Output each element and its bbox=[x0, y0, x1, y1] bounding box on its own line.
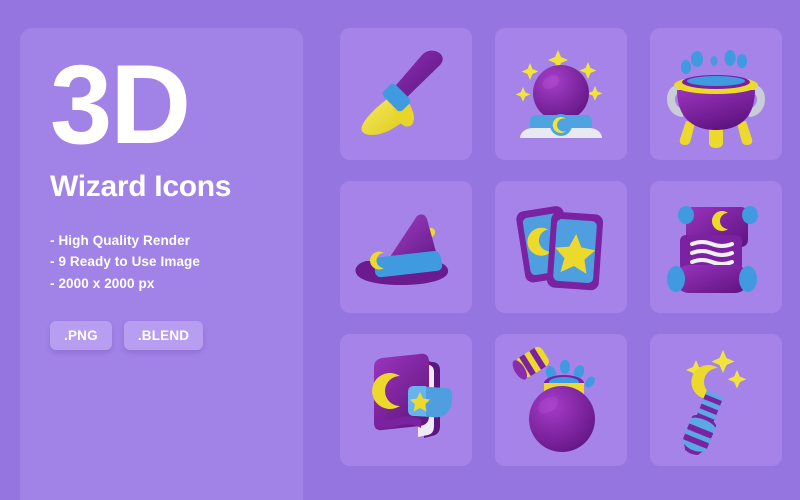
format-badge-blend[interactable]: .BLEND bbox=[124, 321, 203, 350]
cork-lid bbox=[510, 345, 551, 382]
icon-tile-magic-wand[interactable] bbox=[650, 334, 782, 466]
feature-item: - 9 Ready to Use Image bbox=[50, 251, 273, 273]
poster-root: 3D Wizard Icons - High Quality Render - … bbox=[0, 0, 800, 500]
crystal-ball-icon bbox=[495, 28, 627, 160]
icon-tile-crystal-ball[interactable] bbox=[495, 28, 627, 160]
icon-tile-potion-bottle[interactable] bbox=[495, 334, 627, 466]
broomstick-icon bbox=[340, 28, 472, 160]
feature-item: - High Quality Render bbox=[50, 230, 273, 252]
bubbles bbox=[681, 50, 747, 74]
icon-tile-tarot-cards[interactable] bbox=[495, 181, 627, 313]
feature-list: - High Quality Render - 9 Ready to Use I… bbox=[50, 204, 273, 296]
icon-tile-broomstick[interactable] bbox=[340, 28, 472, 160]
tarot-cards-icon bbox=[495, 181, 627, 313]
wizard-hat-icon bbox=[340, 181, 472, 313]
icon-tile-wizard-hat[interactable] bbox=[340, 181, 472, 313]
icon-tile-scroll[interactable] bbox=[650, 181, 782, 313]
format-badge-row: .PNG .BLEND bbox=[50, 295, 273, 350]
promo-card: 3D Wizard Icons - High Quality Render - … bbox=[20, 28, 303, 500]
icon-grid bbox=[340, 28, 782, 466]
cauldron-icon bbox=[650, 28, 782, 160]
feature-item: - 2000 x 2000 px bbox=[50, 273, 273, 295]
scroll-icon bbox=[650, 181, 782, 313]
promo-subtitle: Wizard Icons bbox=[50, 164, 273, 204]
magic-wand-icon bbox=[650, 334, 782, 466]
icon-tile-spell-book[interactable] bbox=[340, 334, 472, 466]
icon-tile-cauldron[interactable] bbox=[650, 28, 782, 160]
potion-bottle-icon bbox=[495, 334, 627, 466]
spell-book-icon bbox=[340, 334, 472, 466]
page-title: 3D bbox=[50, 28, 273, 164]
format-badge-png[interactable]: .PNG bbox=[50, 321, 112, 350]
